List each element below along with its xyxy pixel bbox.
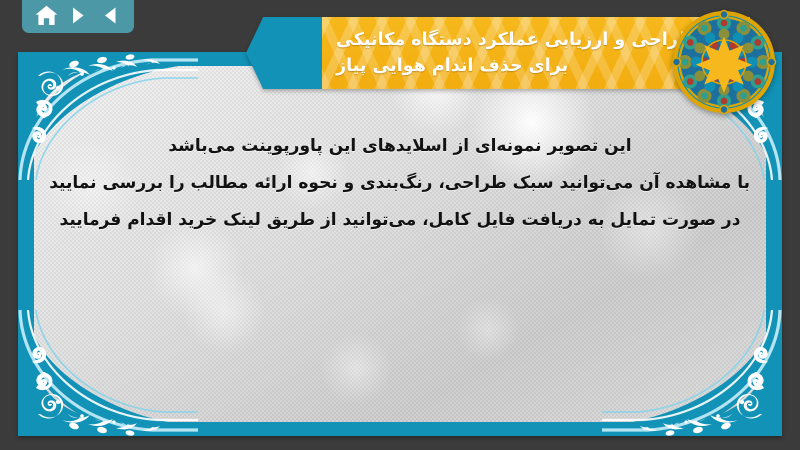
slide-card: [18, 52, 782, 436]
back-button[interactable]: [97, 3, 123, 27]
title-line-1: طراحی و ارزیابی عملکرد دستگاه مکانیکی: [336, 27, 695, 53]
slide-body-text: این تصویر نمونه‌ای از اسلایدهای این پاور…: [50, 128, 750, 239]
slide-viewer: طراحی و ارزیابی عملکرد دستگاه مکانیکی بر…: [0, 0, 800, 450]
slide-inner-panel: [34, 66, 766, 422]
body-line-3: در صورت تمایل به دریافت فایل کامل، می‌تو…: [50, 202, 750, 239]
body-line-1: این تصویر نمونه‌ای از اسلایدهای این پاور…: [50, 128, 750, 165]
navigation-bar: [22, 0, 134, 33]
title-line-2: برای حذف اندام هوایی پیاز: [336, 53, 568, 79]
persian-medallion-icon: [670, 8, 778, 116]
body-line-2: با مشاهده آن می‌توانید سبک طراحی، رنگ‌بن…: [50, 165, 750, 202]
home-button[interactable]: [33, 3, 59, 27]
forward-button[interactable]: [65, 3, 91, 27]
